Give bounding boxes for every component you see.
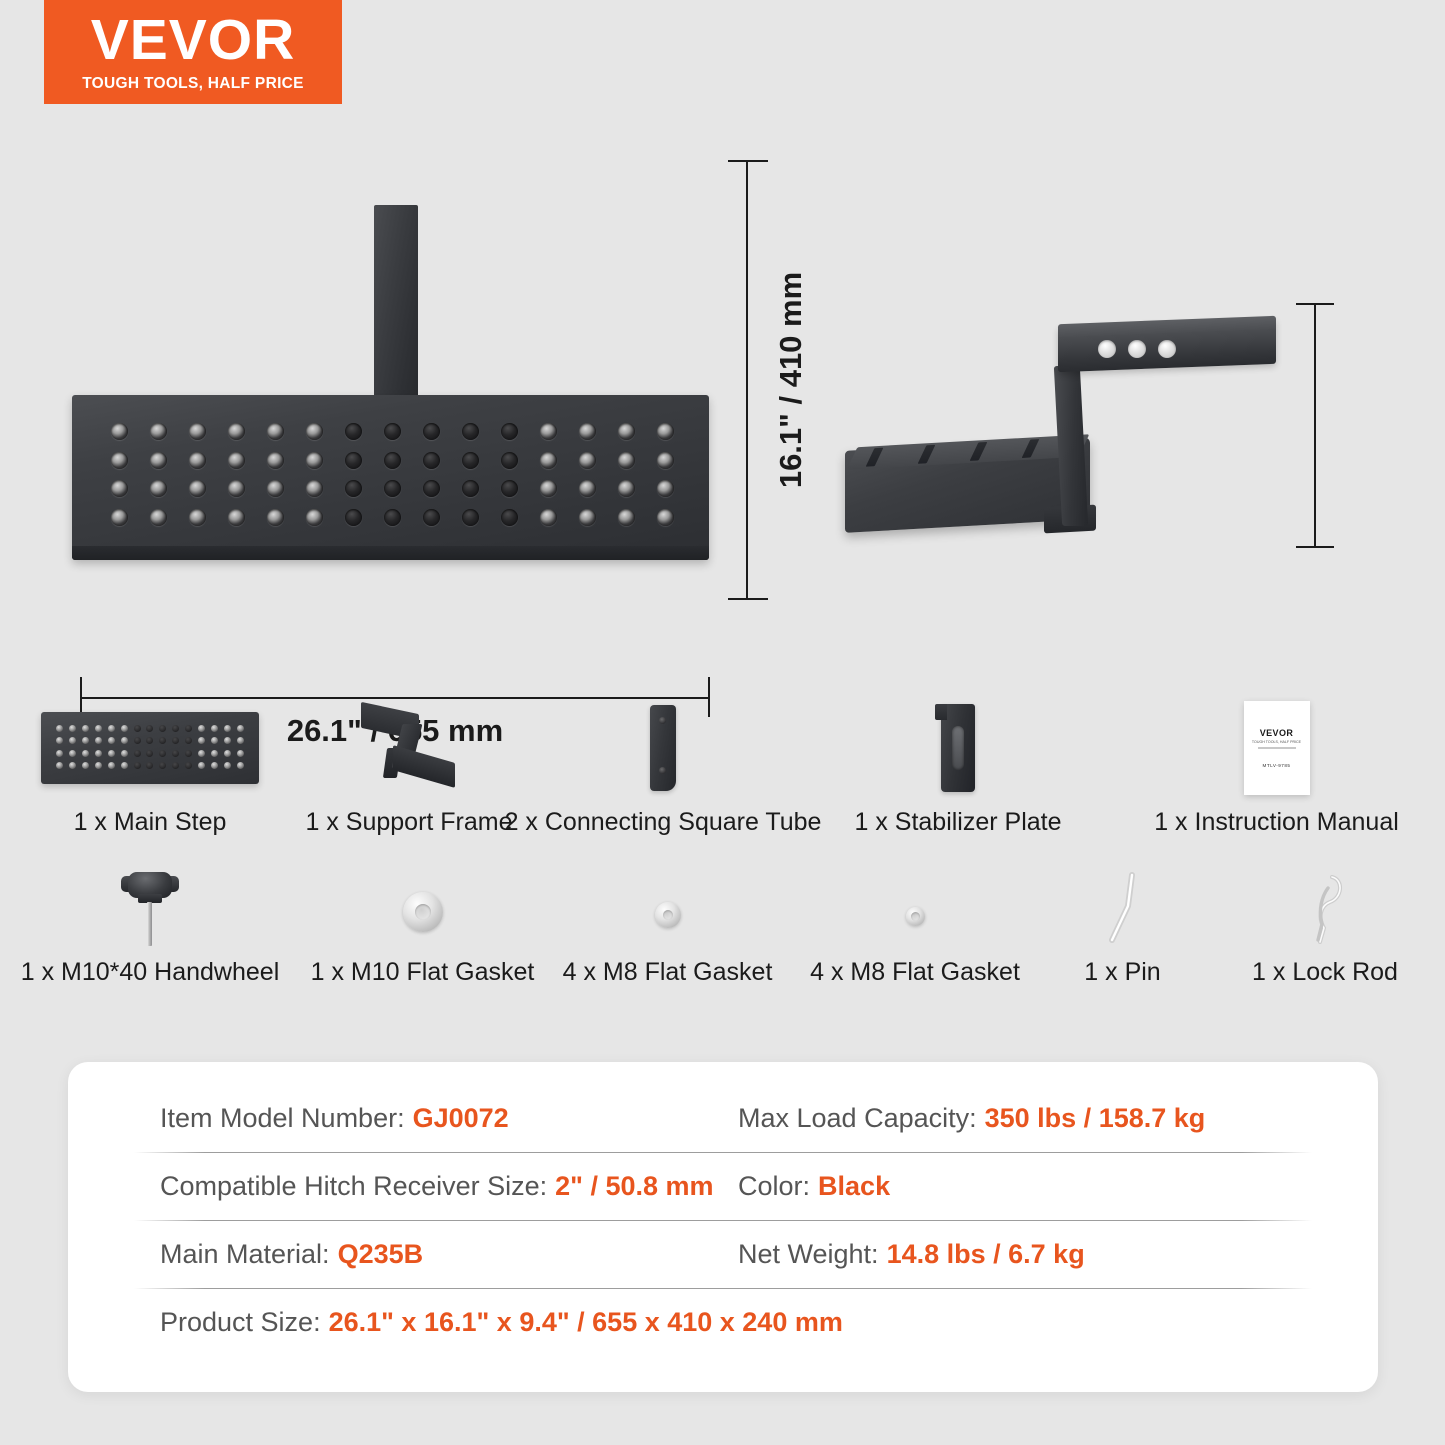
- perforation-hole: [121, 725, 128, 732]
- perforation-hole: [237, 750, 244, 757]
- perforation-hole: [228, 480, 245, 497]
- hitch-pin-hole: [1158, 340, 1176, 358]
- spec-row-product-size: Product Size: 26.1" x 16.1" x 9.4" / 655…: [68, 1288, 1378, 1356]
- perforation-hole: [198, 737, 205, 744]
- brand-tagline: TOUGH TOOLS, HALF PRICE: [82, 76, 304, 92]
- perforation-hole: [540, 423, 557, 440]
- support-frame-icon: [300, 700, 518, 796]
- part-label: 2 x Connecting Square Tube: [505, 808, 822, 837]
- perforation-hole: [134, 762, 141, 769]
- perforation-hole: [237, 762, 244, 769]
- perforation-hole: [228, 452, 245, 469]
- perforation-hole: [224, 725, 231, 732]
- m8-flat-gasket-small-icon: [790, 870, 1040, 946]
- dim-line-horizontal: [80, 697, 710, 699]
- dim-line-vertical: [746, 160, 748, 600]
- spec-cell: Compatible Hitch Receiver Size: 2" / 50.…: [68, 1171, 718, 1202]
- main-step-icon: [0, 700, 300, 796]
- perforation-hole: [423, 509, 440, 526]
- perforation-hole: [189, 452, 206, 469]
- part-connecting-square-tube: 2 x Connecting Square Tube: [518, 700, 808, 837]
- height-dimension-label: 16.1" / 410 mm: [770, 160, 812, 600]
- product-dimension-diagram: 16.1" / 410 mm 26.1" / 655 mm: [0, 110, 1445, 670]
- perforation-hole: [462, 480, 479, 497]
- knob-shaft: [147, 902, 152, 946]
- spec-row: Main Material: Q235B Net Weight: 14.8 lb…: [68, 1220, 1378, 1288]
- part-m8-flat-gasket-a: 4 x M8 Flat Gasket: [545, 870, 790, 987]
- perforation-hole: [540, 509, 557, 526]
- parts-list-row-1: 1 x Main Step 1 x Support Frame 2 x: [0, 700, 1445, 837]
- instruction-manual-icon: VEVOR TOUGH TOOLS, HALF PRICE MTLV-9785: [1108, 700, 1445, 796]
- dim-cap-bottom: [728, 598, 768, 600]
- perforation-hole: [306, 509, 323, 526]
- perforation-hole: [198, 725, 205, 732]
- connecting-square-tube-icon: [518, 700, 808, 796]
- perforation-hole: [306, 480, 323, 497]
- spec-cell: Max Load Capacity: 350 lbs / 158.7 kg: [718, 1103, 1378, 1134]
- vevor-logo: VEVOR TOUGH TOOLS, HALF PRICE: [44, 0, 342, 104]
- perforation-hole: [618, 509, 635, 526]
- dim-cap-top: [728, 160, 768, 162]
- pin-icon: [1040, 870, 1205, 946]
- perforation-hole: [111, 480, 128, 497]
- spec-label: Main Material:: [160, 1239, 330, 1270]
- manual-logo: VEVOR: [1260, 728, 1294, 738]
- perforation-hole: [108, 750, 115, 757]
- perforation-hole: [95, 762, 102, 769]
- stabilizer-lip: [935, 704, 947, 720]
- perforation-hole: [423, 452, 440, 469]
- stabilizer-plate-icon: [808, 700, 1108, 796]
- perforation-hole: [501, 509, 518, 526]
- m10-flat-gasket-icon: [300, 870, 545, 946]
- part-instruction-manual: VEVOR TOUGH TOOLS, HALF PRICE MTLV-9785 …: [1108, 700, 1445, 837]
- perforation-hole: [198, 762, 205, 769]
- perforation-hole: [345, 423, 362, 440]
- perforation-hole: [95, 737, 102, 744]
- perforation-hole: [134, 725, 141, 732]
- perforation-hole: [56, 750, 63, 757]
- perforation-hole: [384, 452, 401, 469]
- part-support-frame: 1 x Support Frame: [300, 700, 518, 837]
- perforation-hole: [56, 762, 63, 769]
- perforation-hole: [501, 480, 518, 497]
- spec-row: Item Model Number: GJ0072 Max Load Capac…: [68, 1084, 1378, 1152]
- tread-rib: [918, 445, 936, 464]
- perforation-hole: [150, 452, 167, 469]
- perforation-hole: [384, 480, 401, 497]
- depth-dimension: 9.4" / 240 mm: [1296, 295, 1406, 555]
- connecting-tube-art: [650, 705, 676, 791]
- perforation-hole: [267, 509, 284, 526]
- perforation-hole: [69, 762, 76, 769]
- perforation-hole: [224, 750, 231, 757]
- m8-washer-small-art: [906, 907, 925, 926]
- height-dimension: 16.1" / 410 mm: [722, 150, 842, 610]
- pin-art: [1100, 872, 1146, 946]
- perforation-hole: [345, 480, 362, 497]
- perforation-hole: [82, 762, 89, 769]
- dim-cap-bottom: [1296, 546, 1334, 548]
- lock-rod-icon: [1205, 870, 1445, 946]
- perforation-hole: [462, 423, 479, 440]
- spec-value: Q235B: [338, 1239, 424, 1270]
- tread-rib: [970, 442, 988, 461]
- step-hole-grid: [100, 417, 685, 532]
- perforation-hole: [579, 423, 596, 440]
- perforation-hole: [237, 725, 244, 732]
- part-label: 1 x M10*40 Handwheel: [21, 958, 280, 987]
- product-infographic: VEVOR TOUGH TOOLS, HALF PRICE 16.1" / 41…: [0, 0, 1445, 1445]
- hitch-step-front-view: [72, 155, 712, 610]
- perforation-hole: [82, 737, 89, 744]
- spec-value: 26.1" x 16.1" x 9.4" / 655 x 410 x 240 m…: [329, 1307, 843, 1338]
- spec-value: 14.8 lbs / 6.7 kg: [887, 1239, 1085, 1270]
- perforation-hole: [211, 725, 218, 732]
- perforation-hole: [146, 762, 153, 769]
- brand-name: VEVOR: [91, 12, 296, 69]
- spec-cell: Main Material: Q235B: [68, 1239, 718, 1270]
- spec-cell: Net Weight: 14.8 lbs / 6.7 kg: [718, 1239, 1378, 1270]
- spec-cell: Color: Black: [718, 1171, 1378, 1202]
- spec-label: Net Weight:: [738, 1239, 879, 1270]
- perforation-hole: [267, 423, 284, 440]
- perforation-hole: [384, 509, 401, 526]
- perforation-hole: [111, 452, 128, 469]
- handwheel-icon: [0, 870, 300, 946]
- spec-row: Compatible Hitch Receiver Size: 2" / 50.…: [68, 1152, 1378, 1220]
- part-m10-flat-gasket: 1 x M10 Flat Gasket: [300, 870, 545, 987]
- perforation-hole: [198, 750, 205, 757]
- perforation-hole: [237, 737, 244, 744]
- perforation-hole: [189, 480, 206, 497]
- perforation-hole: [345, 509, 362, 526]
- perforation-hole: [111, 423, 128, 440]
- perforation-hole: [224, 762, 231, 769]
- perforation-hole: [121, 737, 128, 744]
- perforation-hole: [146, 737, 153, 744]
- spec-cell: Item Model Number: GJ0072: [68, 1103, 718, 1134]
- perforation-hole: [501, 423, 518, 440]
- part-label: 1 x Pin: [1084, 958, 1160, 987]
- m8-flat-gasket-icon: [545, 870, 790, 946]
- part-stabilizer-plate: 1 x Stabilizer Plate: [808, 700, 1108, 837]
- perforation-hole: [121, 762, 128, 769]
- perforation-hole: [267, 452, 284, 469]
- part-lock-rod: 1 x Lock Rod: [1205, 870, 1445, 987]
- perforation-hole: [185, 762, 192, 769]
- perforation-hole: [228, 509, 245, 526]
- stabilizer-slot: [952, 726, 964, 770]
- lock-rod-art: [1298, 872, 1352, 946]
- perforation-hole: [228, 423, 245, 440]
- perforation-hole: [172, 737, 179, 744]
- perforation-hole: [618, 452, 635, 469]
- part-label: 4 x M8 Flat Gasket: [810, 958, 1020, 987]
- m10-washer-art: [403, 892, 443, 932]
- hitch-pin-hole: [1128, 340, 1146, 358]
- spec-value: GJ0072: [413, 1103, 509, 1134]
- perforation-hole: [579, 452, 596, 469]
- perforation-hole: [159, 737, 166, 744]
- part-label: 4 x M8 Flat Gasket: [563, 958, 773, 987]
- perforation-hole: [267, 480, 284, 497]
- perforation-hole: [150, 480, 167, 497]
- perforation-hole: [657, 509, 674, 526]
- perforation-hole: [95, 750, 102, 757]
- perforation-hole: [108, 762, 115, 769]
- manual-code: MTLV-9785: [1263, 763, 1291, 768]
- perforation-hole: [540, 452, 557, 469]
- hitch-pin-hole: [1098, 340, 1116, 358]
- spec-label: Color:: [738, 1171, 810, 1202]
- tread-rib: [866, 448, 884, 467]
- spec-label: Max Load Capacity:: [738, 1103, 977, 1134]
- perforation-hole: [579, 509, 596, 526]
- dim-line-depth: [1314, 303, 1316, 548]
- part-label: 1 x Support Frame: [305, 808, 512, 837]
- tread-rib: [1022, 439, 1040, 458]
- perforation-hole: [423, 423, 440, 440]
- spec-cell: Product Size: 26.1" x 16.1" x 9.4" / 655…: [68, 1307, 1378, 1338]
- perforation-hole: [384, 423, 401, 440]
- part-label: 1 x M10 Flat Gasket: [311, 958, 535, 987]
- perforation-hole: [306, 423, 323, 440]
- frame-lower-arm: [393, 745, 455, 788]
- perforation-hole: [159, 762, 166, 769]
- stabilizer-plate-art: [941, 704, 975, 792]
- perforation-hole: [95, 725, 102, 732]
- perforation-hole: [121, 750, 128, 757]
- part-m8-flat-gasket-b: 4 x M8 Flat Gasket: [790, 870, 1040, 987]
- part-label: 1 x Instruction Manual: [1154, 808, 1399, 837]
- perforation-hole: [189, 423, 206, 440]
- perforation-hole: [423, 480, 440, 497]
- perforation-hole: [172, 725, 179, 732]
- perforation-hole: [146, 725, 153, 732]
- parts-list-row-2: 1 x M10*40 Handwheel 1 x M10 Flat Gasket…: [0, 870, 1445, 987]
- depth-dimension-label: 9.4" / 240 mm: [1441, 446, 1445, 691]
- specifications-card: Item Model Number: GJ0072 Max Load Capac…: [68, 1062, 1378, 1392]
- manual-cover-art: VEVOR TOUGH TOOLS, HALF PRICE MTLV-9785: [1244, 701, 1310, 795]
- part-main-step: 1 x Main Step: [0, 700, 300, 837]
- perforation-hole: [211, 762, 218, 769]
- main-step-art: [41, 712, 259, 784]
- part-label: 1 x Lock Rod: [1252, 958, 1398, 987]
- perforation-hole: [172, 762, 179, 769]
- perforation-hole: [134, 737, 141, 744]
- m8-washer-art: [655, 902, 681, 928]
- perforation-hole: [69, 725, 76, 732]
- perforation-hole: [69, 737, 76, 744]
- perforation-hole: [108, 725, 115, 732]
- perforation-hole: [185, 737, 192, 744]
- perforation-hole: [211, 737, 218, 744]
- spec-label: Product Size:: [160, 1307, 321, 1338]
- perforation-hole: [159, 725, 166, 732]
- perforation-hole: [108, 737, 115, 744]
- spec-label: Compatible Hitch Receiver Size:: [160, 1171, 547, 1202]
- step-platform: [72, 395, 709, 560]
- perforation-hole: [540, 480, 557, 497]
- handwheel-art: [121, 872, 179, 946]
- perforation-hole: [306, 452, 323, 469]
- perforation-hole: [159, 750, 166, 757]
- part-pin: 1 x Pin: [1040, 870, 1205, 987]
- tube-hole: [659, 717, 666, 724]
- perforation-hole: [185, 750, 192, 757]
- perforation-hole: [618, 480, 635, 497]
- perforation-hole: [462, 509, 479, 526]
- manual-tagline: TOUGH TOOLS, HALF PRICE: [1252, 740, 1301, 744]
- part-label: 1 x Main Step: [74, 808, 227, 837]
- hitch-step-side-view: [836, 300, 1286, 570]
- support-frame-art: [357, 702, 461, 794]
- main-step-hole-grid: [53, 722, 247, 772]
- perforation-hole: [172, 750, 179, 757]
- perforation-hole: [211, 750, 218, 757]
- perforation-hole: [224, 737, 231, 744]
- perforation-hole: [462, 452, 479, 469]
- perforation-hole: [134, 750, 141, 757]
- perforation-hole: [501, 452, 518, 469]
- perforation-hole: [56, 725, 63, 732]
- spec-value: Black: [818, 1171, 890, 1202]
- manual-divider: [1258, 747, 1296, 748]
- spec-label: Item Model Number:: [160, 1103, 405, 1134]
- spec-value: 2" / 50.8 mm: [555, 1171, 713, 1202]
- perforation-hole: [657, 423, 674, 440]
- perforation-hole: [82, 725, 89, 732]
- spec-value: 350 lbs / 158.7 kg: [985, 1103, 1206, 1134]
- perforation-hole: [150, 423, 167, 440]
- perforation-hole: [657, 452, 674, 469]
- perforation-hole: [82, 750, 89, 757]
- perforation-hole: [185, 725, 192, 732]
- tube-hole: [659, 767, 666, 774]
- perforation-hole: [150, 509, 167, 526]
- perforation-hole: [657, 480, 674, 497]
- perforation-hole: [618, 423, 635, 440]
- perforation-hole: [69, 750, 76, 757]
- perforation-hole: [111, 509, 128, 526]
- perforation-hole: [345, 452, 362, 469]
- part-label: 1 x Stabilizer Plate: [854, 808, 1061, 837]
- perforation-hole: [579, 480, 596, 497]
- perforation-hole: [56, 737, 63, 744]
- perforation-hole: [189, 509, 206, 526]
- part-handwheel: 1 x M10*40 Handwheel: [0, 870, 300, 987]
- perforation-hole: [146, 750, 153, 757]
